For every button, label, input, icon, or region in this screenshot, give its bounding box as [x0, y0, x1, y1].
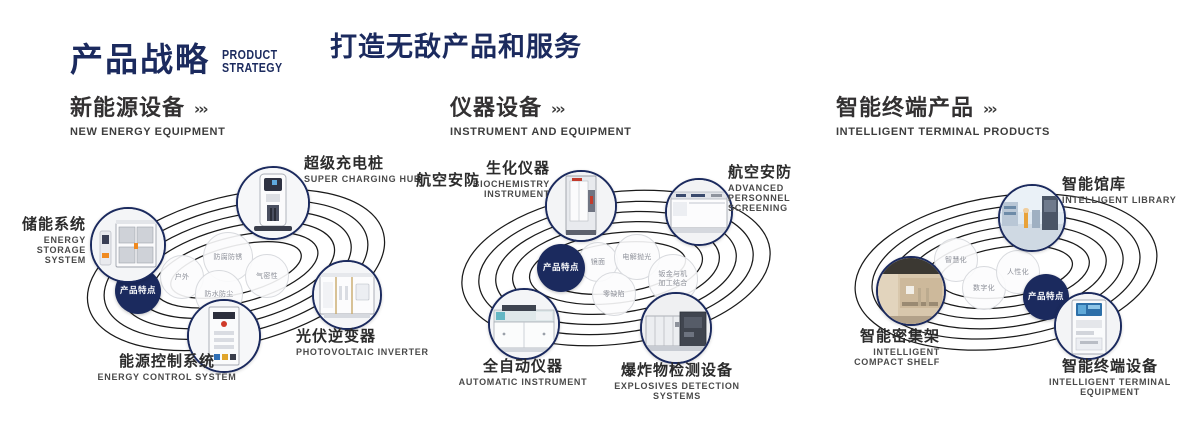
- node-label-en: ADVANCED PERSONNEL SCREENING: [728, 183, 822, 213]
- feature-bubble-label: 零缺陷: [603, 290, 625, 299]
- node-intelligent-library[interactable]: [998, 184, 1066, 252]
- feature-bubble-label: 钣金与机加工结合: [655, 270, 691, 288]
- label-energy-storage-system: 储能系统 ENERGY STORAGE SYSTEM: [0, 216, 86, 265]
- feature-bubble-label: 气密性: [256, 272, 278, 281]
- chevron-right-icon: ›››: [194, 97, 207, 121]
- feature-bubble-label: 户外: [175, 273, 190, 282]
- label-automatic-instrument: 全自动仪器 AUTOMATIC INSTRUMENT: [448, 358, 598, 387]
- screening-machine-photo: [667, 180, 731, 244]
- feature-bubble-label: 电解抛光: [622, 253, 651, 262]
- node-label-en: ENERGY CONTROL SYSTEM: [82, 372, 252, 382]
- node-label-cn: 能源控制系统: [82, 353, 252, 370]
- label-energy-control-system: 能源控制系统 ENERGY CONTROL SYSTEM: [82, 353, 252, 382]
- feature-bubble-label: 防腐防锈: [213, 253, 242, 262]
- center-bubble-label: 产品特点: [1028, 292, 1064, 302]
- section-title-en: NEW ENERGY EQUIPMENT: [70, 126, 225, 138]
- page-title: 产品战略 PRODUCT STRATEGY: [70, 26, 296, 76]
- feature-bubble-label: 数字化: [973, 284, 995, 293]
- library-interior-photo: [1000, 186, 1064, 250]
- page-title-en: PRODUCT STRATEGY: [222, 48, 283, 74]
- section-title-cn-text: 新能源设备: [70, 97, 185, 121]
- product-strategy-infographic: 产品战略 PRODUCT STRATEGY 打造无敌产品和服务 新能源设备 ››…: [0, 0, 1200, 422]
- node-intelligent-terminal-equipment[interactable]: [1054, 292, 1122, 360]
- node-label-en: INTELLIGENT LIBRARY: [1062, 195, 1200, 205]
- center-bubble-product-features: 产品特点: [537, 244, 585, 292]
- label-explosives-detection-systems: 爆炸物检测设备 EXPLOSIVES DETECTION SYSTEMS: [602, 362, 752, 401]
- node-label-cn: 智能密集架: [790, 328, 940, 345]
- feature-bubble-label: 智慧化: [945, 256, 967, 265]
- node-label-cn: 储能系统: [0, 216, 86, 233]
- section-title-cn: 智能终端产品 ›››: [836, 97, 1050, 121]
- feature-bubble-label: 人性化: [1007, 268, 1029, 277]
- feature-bubble-label: 防水防尘: [204, 290, 233, 299]
- feature-bubble: 零缺陷: [592, 272, 636, 316]
- node-super-charging-hub[interactable]: [236, 166, 310, 240]
- section-title-new-energy: 新能源设备 ››› NEW ENERGY EQUIPMENT: [70, 97, 225, 138]
- chevron-right-icon: ›››: [551, 97, 564, 121]
- node-automatic-instrument[interactable]: [488, 288, 560, 360]
- page-subtitle: 打造无敌产品和服务: [330, 34, 582, 61]
- node-label-en: AUTOMATIC INSTRUMENT: [448, 377, 598, 387]
- explosives-detector-photo: [642, 294, 710, 362]
- node-intelligent-compact-shelf[interactable]: [876, 256, 946, 326]
- charging-pile-photo: [238, 168, 308, 238]
- center-bubble-label: 产品特点: [120, 286, 156, 296]
- biochem-instrument-photo: [547, 172, 615, 240]
- node-label-cn: 航空安防: [390, 172, 480, 189]
- page-title-cn: 产品战略: [70, 43, 210, 76]
- node-label-en: EXPLOSIVES DETECTION SYSTEMS: [602, 381, 752, 401]
- section-title-intelligent: 智能终端产品 ››› INTELLIGENT TERMINAL PRODUCTS: [836, 97, 1050, 138]
- section-title-cn-text: 智能终端产品: [836, 97, 974, 121]
- battery-cabinet-photo: [92, 209, 164, 281]
- label-intelligent-terminal-equipment: 智能终端设备 INTELLIGENT TERMINAL EQUIPMENT: [1020, 358, 1200, 397]
- label-intelligent-compact-shelf: 智能密集架 INTELLIGENT COMPACT SHELF: [790, 328, 940, 367]
- node-label-en: INTELLIGENT TERMINAL EQUIPMENT: [1020, 377, 1200, 397]
- section-title-en: INTELLIGENT TERMINAL PRODUCTS: [836, 126, 1050, 138]
- section-title-cn-text: 仪器设备: [450, 97, 542, 121]
- pv-inverter-photo: [314, 262, 380, 328]
- feature-bubble: 气密性: [245, 254, 289, 298]
- label-aviation-security-extra: 航空安防: [390, 172, 480, 189]
- node-label-en: INTELLIGENT COMPACT SHELF: [848, 347, 940, 367]
- center-bubble-label: 产品特点: [543, 263, 579, 273]
- node-biochemistry-instrument[interactable]: [545, 170, 617, 242]
- node-label-en: ENERGY STORAGE SYSTEM: [0, 235, 86, 265]
- section-title-cn: 仪器设备 ›››: [450, 97, 631, 121]
- node-label-cn: 全自动仪器: [448, 358, 598, 375]
- section-title-instrument: 仪器设备 ››› INSTRUMENT AND EQUIPMENT: [450, 97, 631, 138]
- cluster-intelligent: 智慧化 数字化 人性化 产品特点: [810, 150, 1200, 400]
- node-label-cn: 爆炸物检测设备: [602, 362, 752, 379]
- label-intelligent-library: 智能馆库 INTELLIGENT LIBRARY: [1062, 176, 1200, 205]
- chevron-right-icon: ›››: [983, 97, 996, 121]
- node-energy-storage-system[interactable]: [90, 207, 166, 283]
- self-service-kiosk-photo: [1056, 294, 1120, 358]
- node-label-cn: 智能终端设备: [1020, 358, 1200, 375]
- section-title-cn: 新能源设备 ›››: [70, 97, 225, 121]
- node-label-cn: 智能馆库: [1062, 176, 1200, 193]
- node-photovoltaic-inverter[interactable]: [312, 260, 382, 330]
- node-explosives-detection-systems[interactable]: [640, 292, 712, 364]
- cluster-new-energy: 户外 防腐防锈 防水防尘 气密性 产品特点: [40, 150, 440, 400]
- automatic-analyzer-photo: [490, 290, 558, 358]
- cluster-instrument: 镜面 电解抛光 钣金与机加工结合 零缺陷 产品特点: [420, 150, 820, 400]
- compact-shelf-photo: [878, 258, 944, 324]
- feature-bubble-label: 镜面: [591, 258, 606, 267]
- page-title-en-line2: STRATEGY: [222, 61, 283, 74]
- node-advanced-personnel-screening[interactable]: [665, 178, 733, 246]
- section-title-en: INSTRUMENT AND EQUIPMENT: [450, 126, 631, 138]
